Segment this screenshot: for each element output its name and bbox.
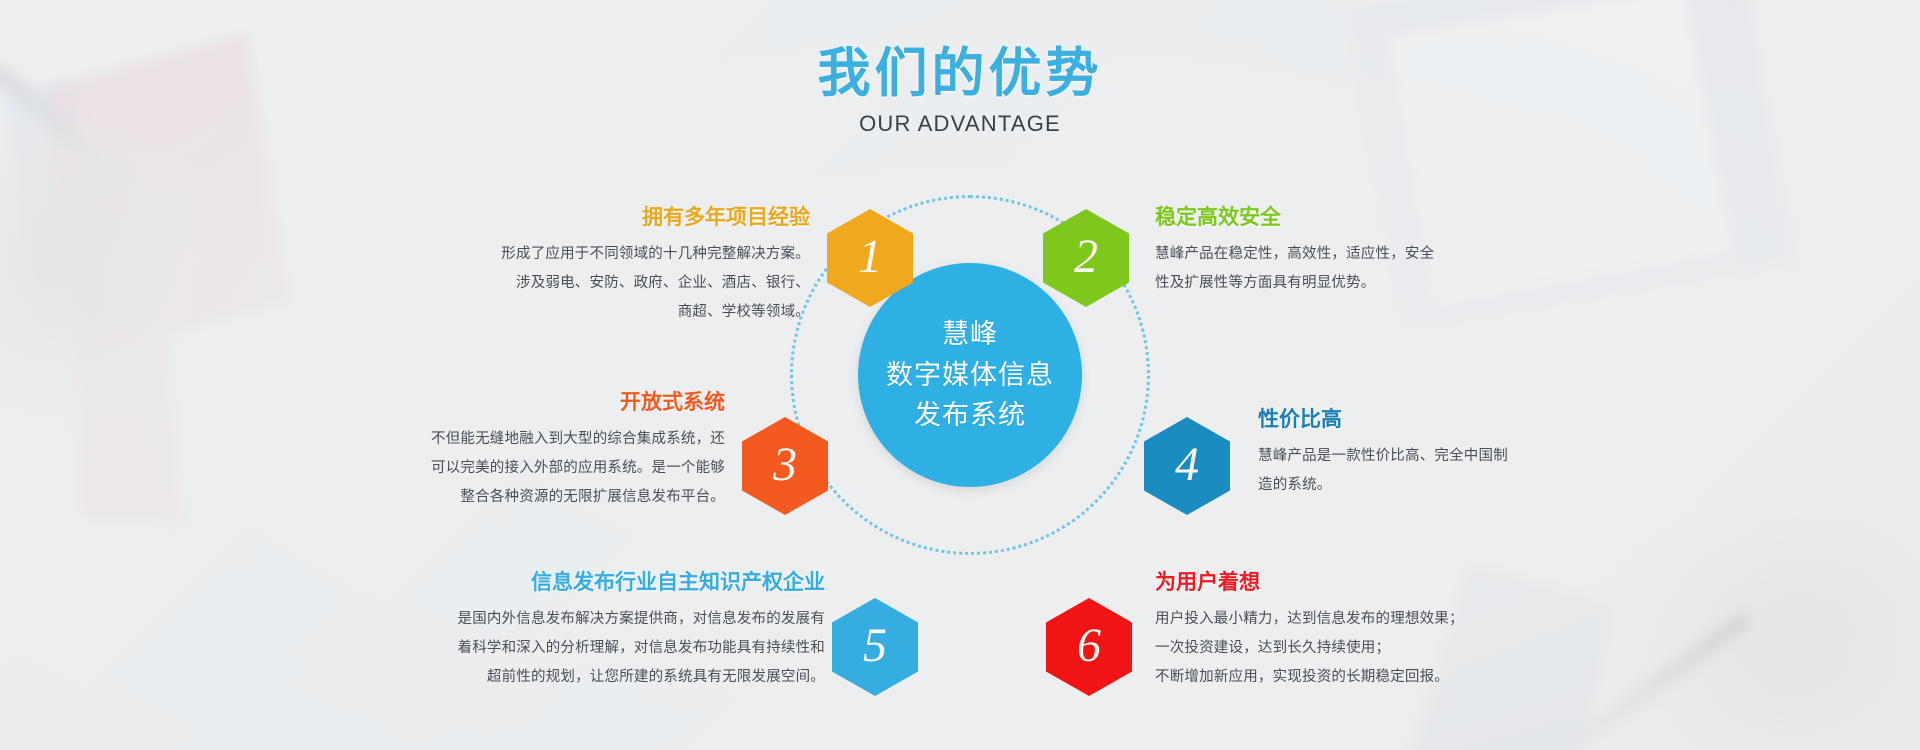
center-line-1: 慧峰 <box>942 314 998 355</box>
feature-3-title: 开放式系统 <box>350 390 725 416</box>
hex-badge-3-number: 3 <box>773 441 797 489</box>
page-header: 我们的优势 OUR ADVANTAGE <box>0 44 1920 137</box>
background-hand-right <box>1574 464 1920 750</box>
center-circle: 慧峰 数字媒体信息 发布系统 <box>858 263 1082 487</box>
feature-3-body: 不但能无缝地融入到大型的综合集成系统，还可以完美的接入外部的应用系统。是一个能够… <box>350 425 725 512</box>
feature-1-title: 拥有多年项目经验 <box>440 205 810 231</box>
feature-6-title: 为用户着想 <box>1155 570 1555 596</box>
feature-2-title: 稳定高效安全 <box>1155 205 1535 231</box>
feature-block-2: 稳定高效安全 慧峰产品在稳定性，高效性，适应性，安全性及扩展性等方面具有明显优势… <box>1155 205 1535 298</box>
feature-block-4: 性价比高 慧峰产品是一款性价比高、完全中国制造的系统。 <box>1258 407 1618 500</box>
feature-2-body: 慧峰产品在稳定性，高效性，适应性，安全性及扩展性等方面具有明显优势。 <box>1155 240 1535 298</box>
feature-block-6: 为用户着想 用户投入最小精力，达到信息发布的理想效果；一次投资建设，达到长久持续… <box>1155 570 1555 692</box>
center-line-2: 数字媒体信息 <box>886 355 1054 396</box>
background-paper-pink-small <box>71 327 181 523</box>
hex-badge-5-number: 5 <box>863 622 887 670</box>
hex-badge-6-number: 6 <box>1077 622 1101 670</box>
hex-badge-2-number: 2 <box>1074 233 1098 281</box>
feature-4-title: 性价比高 <box>1258 407 1618 433</box>
page-title-cn: 我们的优势 <box>0 44 1920 103</box>
background-hand-left <box>0 112 231 468</box>
feature-6-body: 用户投入最小精力，达到信息发布的理想效果；一次投资建设，达到长久持续使用；不断增… <box>1155 605 1555 692</box>
advantage-infographic-page: 我们的优势 OUR ADVANTAGE 慧峰 数字媒体信息 发布系统 1 2 3… <box>0 0 1920 750</box>
feature-5-title: 信息发布行业自主知识产权企业 <box>400 570 825 596</box>
feature-block-3: 开放式系统 不但能无缝地融入到大型的综合集成系统，还可以完美的接入外部的应用系统… <box>350 390 725 512</box>
center-line-3: 发布系统 <box>914 395 1026 436</box>
feature-4-body: 慧峰产品是一款性价比高、完全中国制造的系统。 <box>1258 442 1618 500</box>
page-title-en: OUR ADVANTAGE <box>0 111 1920 137</box>
feature-block-5: 信息发布行业自主知识产权企业 是国内外信息发布解决方案提供商，对信息发布的发展有… <box>400 570 825 692</box>
feature-5-body: 是国内外信息发布解决方案提供商，对信息发布的发展有着科学和深入的分析理解，对信息… <box>400 605 825 692</box>
hex-badge-4-number: 4 <box>1175 441 1199 489</box>
feature-block-1: 拥有多年项目经验 形成了应用于不同领域的十几种完整解决方案。涉及弱电、安防、政府… <box>440 205 810 327</box>
background-pen-right <box>1566 609 1755 750</box>
hex-badge-1-number: 1 <box>858 233 882 281</box>
hex-badge-4[interactable]: 4 <box>1144 417 1230 515</box>
hex-badge-6[interactable]: 6 <box>1046 598 1132 696</box>
hex-badge-5[interactable]: 5 <box>832 598 918 696</box>
feature-1-body: 形成了应用于不同领域的十几种完整解决方案。涉及弱电、安防、政府、企业、酒店、银行… <box>440 240 810 327</box>
